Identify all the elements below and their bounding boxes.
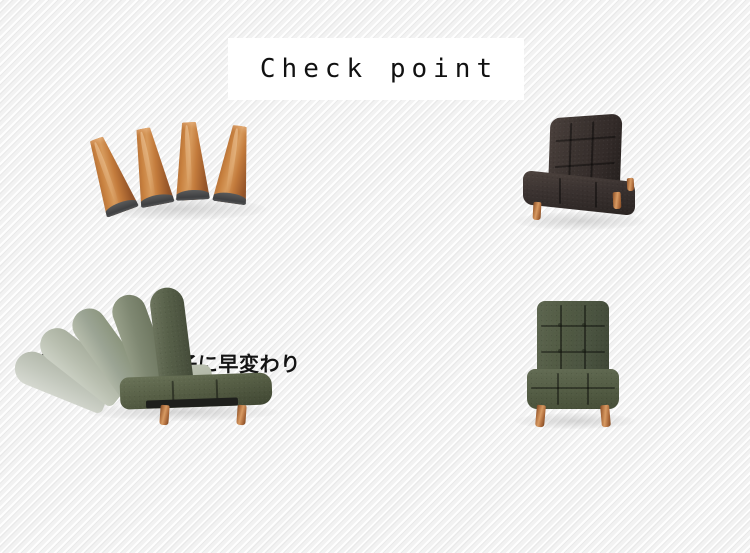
green-chair-seat-tuft-v2 [587, 373, 589, 405]
wooden-leg-3-highlight [184, 125, 193, 192]
green-chair-tuft-button-4 [582, 349, 586, 353]
green-chair-seat-texture [527, 369, 619, 409]
page-title: Check point [254, 54, 498, 84]
green-chair-backrest [537, 301, 609, 375]
green-chair-tuft-h1 [541, 325, 605, 327]
green-chair-tuft-v1 [560, 305, 562, 371]
wooden-leg-2 [126, 125, 174, 208]
green-chair-leg-right [600, 405, 611, 428]
green-chair-seat-tuft-h1 [531, 387, 615, 389]
green-chair-seat-tuft-v1 [557, 373, 559, 405]
green-chair-tuft-v2 [584, 305, 586, 371]
detachable-legs-figure [0, 110, 375, 230]
four-wooden-legs-photo [0, 110, 375, 230]
green-chair-reclining-positions-photo [0, 295, 375, 430]
recline-leg-left [159, 405, 169, 426]
green-chair-tuft-h2 [541, 351, 605, 353]
green-chair-tuft-button-1 [558, 323, 562, 327]
high-back-figure [375, 110, 750, 230]
green-chair-leg-left [535, 405, 546, 428]
wooden-leg-2-highlight [138, 131, 156, 198]
pocket-coil-figure [375, 295, 750, 435]
green-chair-shadow [515, 413, 635, 429]
dark-chair-leg-front-right [613, 192, 622, 209]
title-banner: Check point [228, 38, 524, 100]
recline-leg-right [236, 405, 246, 426]
wooden-leg-3 [172, 121, 210, 201]
feature-card-pocket-coil: 座り心地バツグンの ポケットコイル使用 [375, 295, 750, 510]
dark-chair-seat-tuft-v2 [595, 182, 597, 208]
wooden-leg-4-highlight [225, 128, 240, 195]
check-point-panel: Check point [0, 0, 750, 553]
wooden-leg-1 [80, 133, 139, 218]
green-chair-tuft-button-2 [582, 323, 586, 327]
dark-chair-leg-rear [627, 178, 635, 191]
wooden-leg-4 [212, 123, 257, 205]
dark-chair-leg-front-left [533, 202, 542, 220]
feature-card-detachable-legs: 脚を外せば座椅子に早変わり [0, 110, 375, 280]
green-chair-backrest-texture [537, 301, 609, 375]
green-chair-front-view-photo [375, 295, 750, 435]
reclining-figure [0, 295, 375, 430]
dark-chair-seat-tuft-v1 [559, 178, 561, 204]
green-chair-tuft-button-3 [558, 349, 562, 353]
feature-card-high-back: 背中を支えてくれるハイバック [375, 110, 750, 280]
dark-brown-highback-chair-photo [375, 110, 750, 230]
wooden-leg-1-highlight [92, 142, 120, 207]
feature-card-reclining: 14段階リクライニング [0, 295, 375, 480]
green-chair-seat [527, 369, 619, 409]
